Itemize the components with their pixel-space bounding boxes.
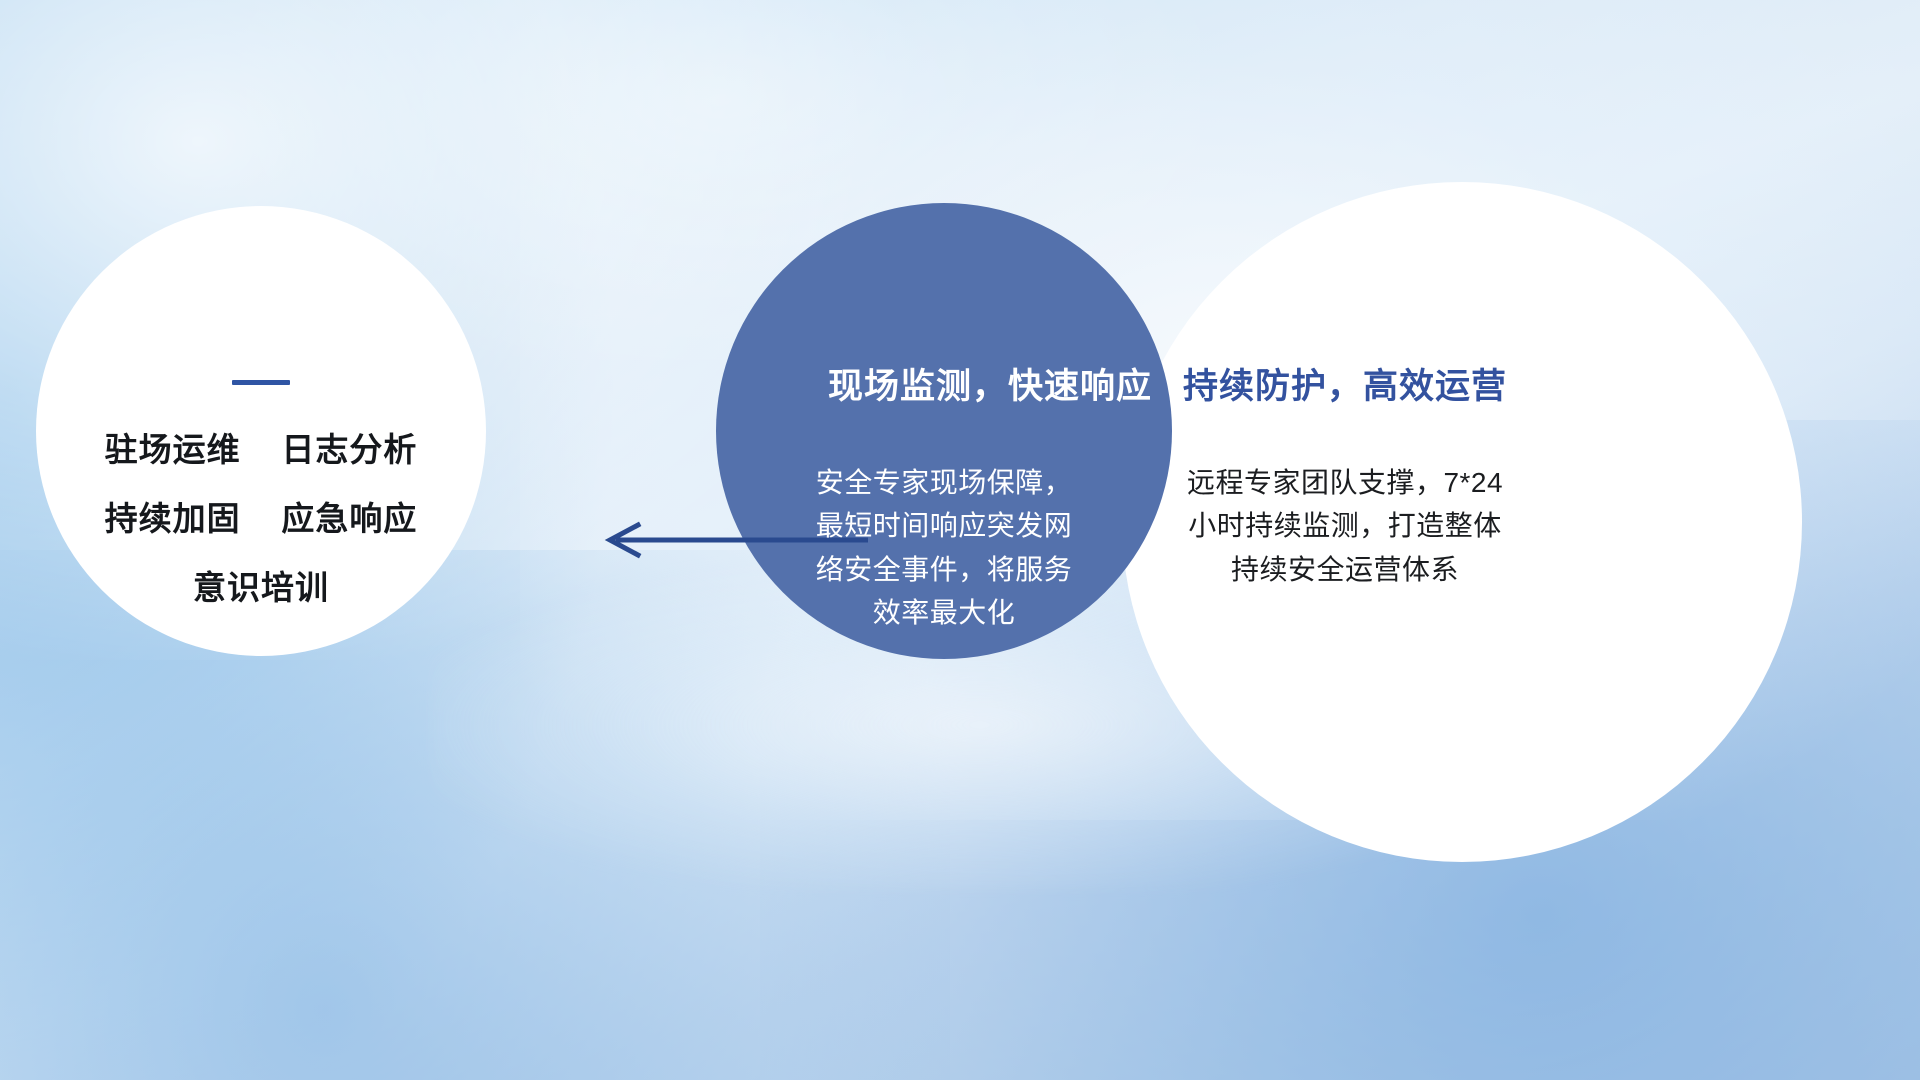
right-circle-title: 持续防护，高效运营	[1130, 358, 1560, 409]
right-circle-content: 持续防护，高效运营 远程专家团队支撑，7*24 小时持续监测，打造整体 持续安全…	[1130, 358, 1560, 591]
list-item: 驻场运维 日志分析	[56, 433, 466, 466]
body-line: 远程专家团队支撑，7*24	[1142, 461, 1548, 504]
body-line: 持续安全运营体系	[1142, 548, 1548, 591]
body-line: 安全专家现场保障，	[758, 461, 1130, 504]
left-circle-content: 驻场运维 日志分析 持续加固 应急响应 意识培训	[56, 380, 466, 604]
body-line: 效率最大化	[758, 591, 1130, 634]
accent-dash-mark	[232, 380, 290, 385]
diagram-canvas: 驻场运维 日志分析 持续加固 应急响应 意识培训 现场监测，快速响应 安全专家现…	[0, 0, 1920, 1080]
middle-circle-title: 现场监测，快速响应	[828, 358, 1172, 409]
body-line: 小时持续监测，打造整体	[1142, 504, 1548, 547]
middle-circle-body: 安全专家现场保障， 最短时间响应突发网 络安全事件，将服务 效率最大化	[716, 461, 1172, 635]
body-line: 络安全事件，将服务	[758, 548, 1130, 591]
body-line: 最短时间响应突发网	[758, 504, 1130, 547]
list-item: 意识培训	[56, 571, 466, 604]
right-circle-body: 远程专家团队支撑，7*24 小时持续监测，打造整体 持续安全运营体系	[1130, 461, 1560, 591]
left-keyword-list: 驻场运维 日志分析 持续加固 应急响应 意识培训	[56, 433, 466, 604]
list-item: 持续加固 应急响应	[56, 502, 466, 535]
middle-circle-content: 现场监测，快速响应 安全专家现场保障， 最短时间响应突发网 络安全事件，将服务 …	[716, 358, 1172, 635]
